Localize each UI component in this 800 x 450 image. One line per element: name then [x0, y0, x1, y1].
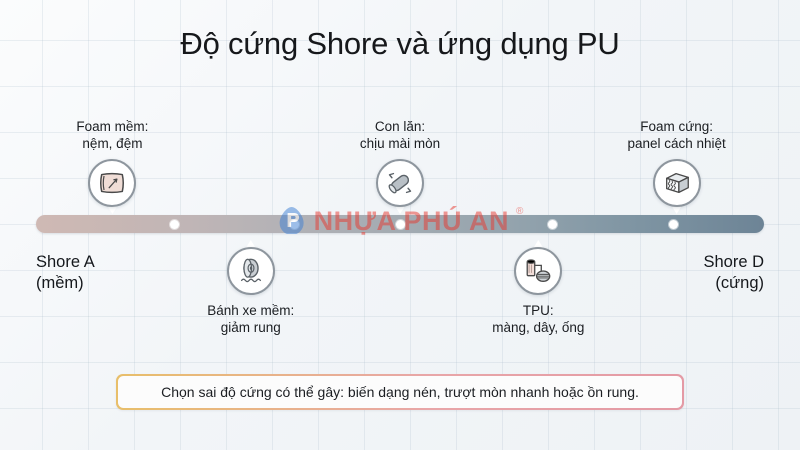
marker-label-line1: TPU: [523, 303, 554, 318]
shore-hardness-scale [36, 215, 764, 233]
marker-label-line1: Foam mềm: [76, 119, 148, 134]
infographic-canvas: Độ cứng Shore và ứng dụng PU Shore A (mề… [0, 0, 800, 450]
endpoint-left-line1: Shore A [36, 253, 95, 271]
scale-dot [396, 220, 405, 229]
marker-label-line2: giảm rung [181, 319, 321, 336]
scale-dot [548, 220, 557, 229]
film-roll-icon [523, 256, 553, 286]
warning-note-text: Chọn sai độ cứng có thể gây: biến dạng n… [161, 384, 639, 400]
marker-label-foam-cung: Foam cứng:panel cách nhiệt [607, 118, 747, 152]
marker-pin-foam-mem[interactable] [88, 159, 136, 207]
marker-label-line1: Foam cứng: [640, 119, 713, 134]
pin-circle[interactable] [514, 247, 562, 295]
pin-circle[interactable] [653, 159, 701, 207]
marker-label-con-lan: Con lăn:chịu mài mòn [330, 118, 470, 152]
marker-pin-banh-xe-mem[interactable] [227, 247, 275, 295]
warning-note: Chọn sai độ cứng có thể gây: biến dạng n… [116, 374, 684, 410]
endpoint-right-line1: Shore D [703, 253, 764, 271]
warning-note-inner: Chọn sai độ cứng có thể gây: biến dạng n… [118, 376, 683, 409]
marker-label-line2: panel cách nhiệt [607, 135, 747, 152]
scale-dot [170, 220, 179, 229]
wheel-icon [236, 256, 266, 286]
pillow-icon [97, 168, 127, 198]
scale-dot [669, 220, 678, 229]
insulation-panel-icon [662, 168, 692, 198]
marker-banh-xe-mem[interactable]: Bánh xe mềm:giảm rung [181, 247, 321, 336]
marker-label-banh-xe-mem: Bánh xe mềm:giảm rung [181, 302, 321, 336]
pin-circle[interactable] [88, 159, 136, 207]
endpoint-right-line2: (cứng) [703, 273, 764, 294]
marker-pin-con-lan[interactable] [376, 159, 424, 207]
marker-foam-cung[interactable]: Foam cứng:panel cách nhiệt [607, 118, 747, 207]
endpoint-label-shore-a: Shore A (mềm) [36, 252, 95, 294]
marker-label-line1: Con lăn: [375, 119, 425, 134]
scale-dot [290, 220, 299, 229]
marker-label-line2: chịu mài mòn [330, 135, 470, 152]
marker-label-line2: màng, dây, ống [468, 319, 608, 336]
page-title: Độ cứng Shore và ứng dụng PU [0, 26, 800, 62]
marker-label-line1: Bánh xe mềm: [207, 303, 294, 318]
pin-circle[interactable] [227, 247, 275, 295]
marker-foam-mem[interactable]: Foam mềm:nệm, đệm [42, 118, 182, 207]
marker-tpu[interactable]: TPU:màng, dây, ống [468, 247, 608, 336]
pin-circle[interactable] [376, 159, 424, 207]
marker-label-tpu: TPU:màng, dây, ống [468, 302, 608, 336]
endpoint-left-line2: (mềm) [36, 273, 95, 294]
marker-con-lan[interactable]: Con lăn:chịu mài mòn [330, 118, 470, 207]
marker-label-foam-mem: Foam mềm:nệm, đệm [42, 118, 182, 152]
marker-pin-foam-cung[interactable] [653, 159, 701, 207]
endpoint-label-shore-d: Shore D (cứng) [703, 252, 764, 294]
roller-icon [385, 168, 415, 198]
marker-pin-tpu[interactable] [514, 247, 562, 295]
marker-label-line2: nệm, đệm [42, 135, 182, 152]
